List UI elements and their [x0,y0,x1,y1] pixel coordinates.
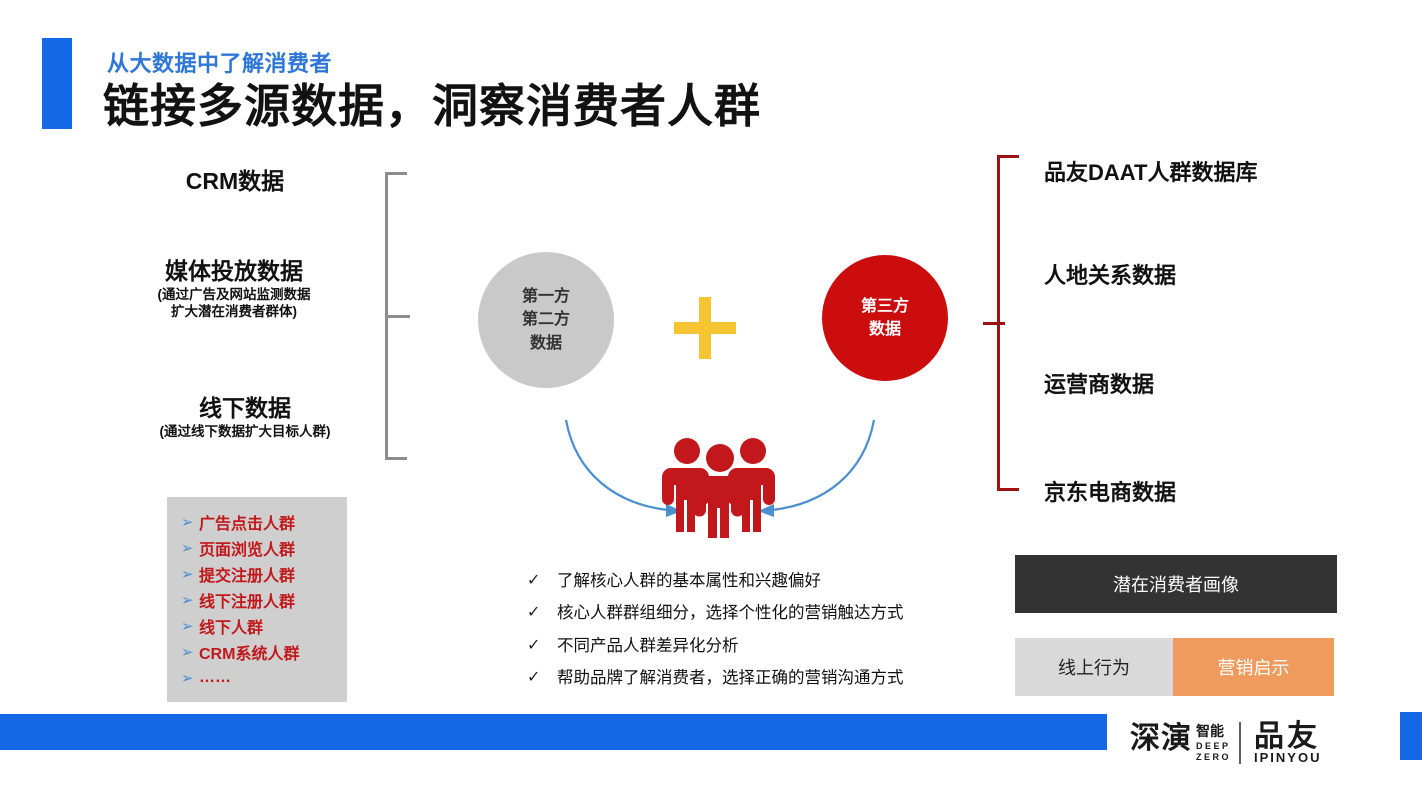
arrow-bullet-icon: ➢ [181,515,199,530]
audience-segment-box: ➢ 广告点击人群 ➢ 页面浏览人群 ➢ 提交注册人群 ➢ 线下注册人群 ➢ 线下… [167,497,347,702]
first-second-party-label: 第一方 第二方 数据 [522,285,570,355]
bracket-mid-tick [983,322,1005,325]
left-source-note: (通过广告及网站监测数据 扩大潜在消费者群体) [134,286,334,321]
consumer-portrait-label: 潜在消费者画像 [1113,571,1239,597]
logo-brand-cn: 深演 [1130,722,1192,755]
list-item: ✓ 核心人群群组细分，选择个性化的营销触达方式 [527,602,957,624]
right-group-bracket [997,155,1021,491]
bracket-cap-top [997,155,1019,158]
checklist-item-label: 了解核心人群的基本属性和兴趣偏好 [557,570,821,592]
person-head-center [706,444,734,472]
audience-item-label: …… [199,669,231,687]
arrow-bullet-icon: ➢ [181,593,199,608]
check-icon: ✓ [527,667,557,689]
list-item: ✓ 不同产品人群差异化分析 [527,635,957,657]
plus-icon [674,297,736,359]
marketing-insight-label: 营销启示 [1218,654,1290,680]
check-icon: ✓ [527,602,557,624]
left-source-heading: CRM数据 [175,167,295,196]
person-head-right [740,438,766,464]
check-icon: ✓ [527,635,557,657]
bracket-cap-top [385,172,407,175]
checklist-item-label: 帮助品牌了解消费者，选择正确的营销沟通方式 [557,667,904,689]
audience-item-label: 页面浏览人群 [199,536,295,560]
right-source-jd: 京东电商数据 [1044,475,1176,507]
arrow-bullet-icon: ➢ [181,645,199,660]
logo-partner-cn: 品友 [1254,720,1320,753]
person-body-center [693,476,744,538]
check-icon: ✓ [527,570,557,592]
bracket-cap-bottom [385,457,407,460]
arrow-bullet-icon: ➢ [181,567,199,582]
company-logo: 深演 智能 DEEP ZERO 品友 IPINYOU [1130,714,1380,774]
person-head-left [674,438,700,464]
right-source-geo: 人地关系数据 [1044,258,1176,290]
right-source-carrier: 运营商数据 [1044,367,1154,399]
list-item[interactable]: ➢ 提交注册人群 [167,561,347,587]
logo-svg: 深演 智能 DEEP ZERO 品友 IPINYOU [1130,714,1380,774]
online-behavior-label: 线上行为 [1058,654,1130,680]
left-source-crm: CRM数据 [175,167,295,196]
list-item[interactable]: ➢ 页面浏览人群 [167,535,347,561]
footer-right-tab [1400,712,1422,760]
left-group-bracket [385,172,409,460]
left-source-offline: 线下数据 (通过线下数据扩大目标人群) [150,394,340,440]
arrow-left-curve [566,420,668,510]
audience-item-label: 提交注册人群 [199,562,295,586]
audience-item-label: 线下注册人群 [199,588,295,612]
checklist-item-label: 不同产品人群差异化分析 [557,635,739,657]
third-party-circle: 第三方 数据 [822,255,948,381]
arrow-bullet-icon: ➢ [181,541,199,556]
title-accent-bar [42,38,72,129]
list-item[interactable]: ➢ CRM系统人群 [167,639,347,665]
logo-brand-sub-cn: 智能 [1195,723,1224,739]
audience-item-label: 线下人群 [199,614,263,638]
audience-people-illustration [560,418,880,538]
checklist-item-label: 核心人群群组细分，选择个性化的营销触达方式 [557,602,904,624]
arrow-bullet-icon: ➢ [181,619,199,634]
bracket-cap-bottom [997,488,1019,491]
logo-brand-sub-en-1: DEEP [1196,741,1231,751]
consumer-portrait-box[interactable]: 潜在消费者画像 [1015,555,1337,613]
audience-item-label: CRM系统人群 [199,640,299,664]
logo-partner-en: IPINYOU [1254,750,1321,765]
marketing-insight-box[interactable]: 营销启示 [1173,638,1334,696]
bracket-mid-tick [388,315,410,318]
first-second-party-circle: 第一方 第二方 数据 [478,252,614,388]
audience-segment-list: ➢ 广告点击人群 ➢ 页面浏览人群 ➢ 提交注册人群 ➢ 线下注册人群 ➢ 线下… [167,497,347,691]
arrow-bullet-icon: ➢ [181,671,199,686]
footer-bar [0,714,1107,750]
list-item[interactable]: ➢ 线下人群 [167,613,347,639]
insight-checklist: ✓ 了解核心人群的基本属性和兴趣偏好 ✓ 核心人群群组细分，选择个性化的营销触达… [527,570,957,699]
third-party-label: 第三方 数据 [861,295,909,341]
slide-canvas: 从大数据中了解消费者 链接多源数据，洞察消费者人群 CRM数据 媒体投放数据 (… [0,0,1422,800]
left-source-note: (通过线下数据扩大目标人群) [150,423,340,441]
list-item[interactable]: ➢ 线下注册人群 [167,587,347,613]
page-title: 链接多源数据，洞察消费者人群 [103,70,761,136]
people-arrows-svg [560,418,880,538]
list-item[interactable]: ➢ 广告点击人群 [167,509,347,535]
list-item: ✓ 帮助品牌了解消费者，选择正确的营销沟通方式 [527,667,957,689]
arrow-right-curve [772,420,874,510]
online-behavior-box[interactable]: 线上行为 [1015,638,1173,696]
left-source-media: 媒体投放数据 (通过广告及网站监测数据 扩大潜在消费者群体) [134,257,334,321]
left-source-heading: 媒体投放数据 [134,257,334,286]
left-source-heading: 线下数据 [150,394,340,423]
audience-item-label: 广告点击人群 [199,510,295,534]
list-item: ✓ 了解核心人群的基本属性和兴趣偏好 [527,570,957,592]
people-group [662,438,775,538]
logo-brand-sub-en-2: ZERO [1196,752,1231,762]
right-source-daat: 品友DAAT人群数据库 [1044,155,1257,187]
list-item[interactable]: ➢ …… [167,665,347,691]
